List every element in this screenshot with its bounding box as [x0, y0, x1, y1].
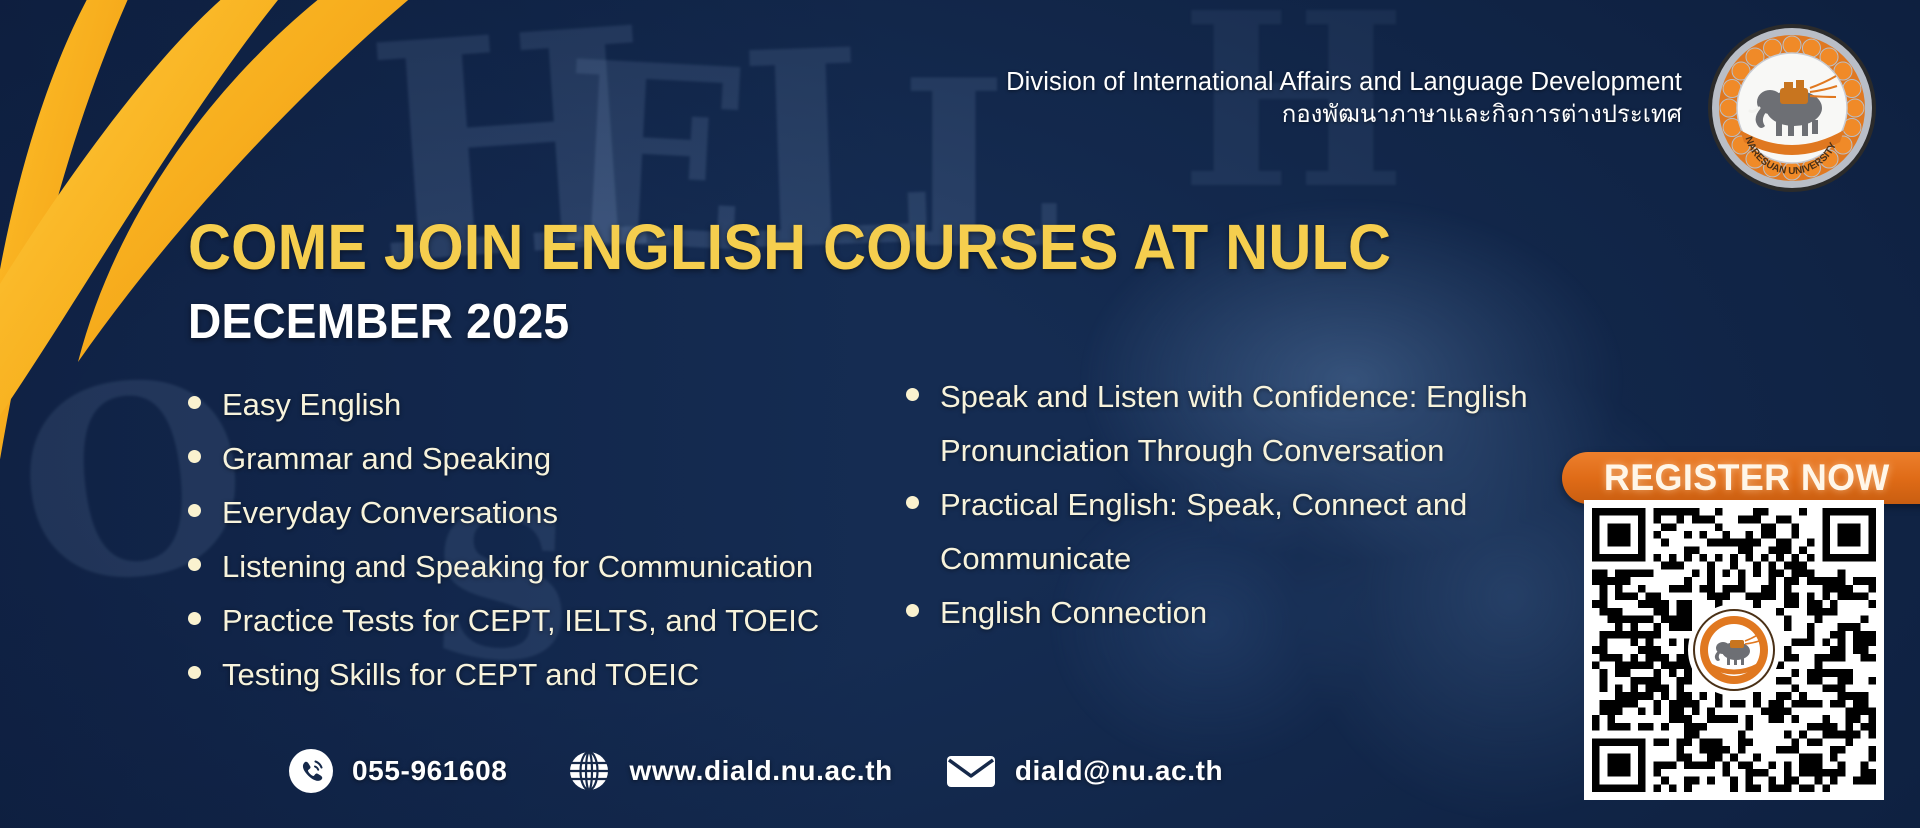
- list-item: Speak and Listen with Confidence: Englis…: [898, 370, 1588, 478]
- naresuan-university-seal-icon: NARESUAN UNIVERSITY: [1706, 22, 1878, 194]
- email-address: diald@nu.ac.th: [1015, 755, 1223, 787]
- register-now-button[interactable]: REGISTER NOW: [1562, 452, 1920, 504]
- list-item: Grammar and Speaking: [180, 432, 880, 486]
- list-item: Practice Tests for CEPT, IELTS, and TOEI…: [180, 594, 880, 648]
- contact-email[interactable]: diald@nu.ac.th: [945, 751, 1223, 791]
- envelope-icon: [945, 751, 997, 791]
- register-now-label: REGISTER NOW: [1604, 457, 1920, 499]
- globe-icon: [567, 749, 611, 793]
- list-item: Everyday Conversations: [180, 486, 880, 540]
- promo-banner: H E L L O S H Division of International …: [0, 0, 1920, 828]
- contact-phone[interactable]: 055-961608: [288, 748, 507, 794]
- page-title: COME JOIN ENGLISH COURSES AT NULC: [188, 210, 1391, 284]
- qr-code[interactable]: [1592, 508, 1876, 792]
- list-item: Listening and Speaking for Communication: [180, 540, 880, 594]
- website-url: www.diald.nu.ac.th: [629, 755, 892, 787]
- list-item: English Connection: [898, 586, 1588, 640]
- list-item: Easy English: [180, 378, 880, 432]
- contact-website[interactable]: www.diald.nu.ac.th: [567, 749, 892, 793]
- phone-number: 055-961608: [352, 755, 507, 787]
- list-item: Testing Skills for CEPT and TOEIC: [180, 648, 880, 702]
- org-name-en: Division of International Affairs and La…: [1006, 66, 1682, 99]
- seal-mini-icon: [1692, 608, 1776, 692]
- qr-embedded-logo: [1688, 604, 1780, 696]
- page-subtitle: DECEMBER 2025: [188, 294, 569, 350]
- course-list-left: Easy English Grammar and Speaking Everyd…: [180, 378, 880, 702]
- list-item: Practical English: Speak, Connect and Co…: [898, 478, 1588, 586]
- org-name-th: กองพัฒนาภาษาและกิจการต่างประเทศ: [1006, 100, 1682, 131]
- organization-header: Division of International Affairs and La…: [1006, 66, 1682, 130]
- phone-icon: [288, 748, 334, 794]
- course-list-right: Speak and Listen with Confidence: Englis…: [898, 370, 1588, 640]
- qr-code-panel[interactable]: [1584, 500, 1884, 800]
- contact-bar: 055-961608 www.diald.nu.ac.th: [288, 748, 1223, 794]
